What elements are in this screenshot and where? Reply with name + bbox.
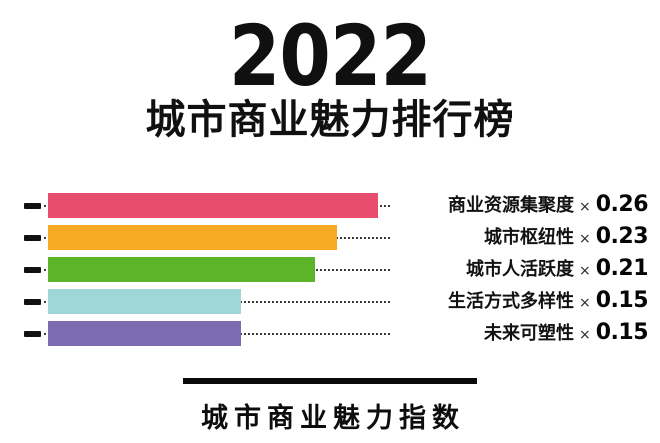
- dash-marker-icon: [24, 235, 41, 241]
- multiply-icon: ×: [579, 263, 591, 279]
- chart-row: 生活方式多样性×0.15: [0, 286, 660, 318]
- dash-marker-icon: [24, 203, 41, 209]
- footer-caption: 城市商业魅力指数: [0, 396, 660, 435]
- chart-bar-weight: 0.23: [596, 224, 648, 249]
- chart-bar: [48, 193, 378, 218]
- page-title-year: 2022: [40, 18, 621, 95]
- chart-bar-weight: 0.15: [596, 288, 648, 313]
- multiply-icon: ×: [579, 231, 591, 247]
- dash-marker-icon: [24, 267, 41, 273]
- multiply-icon: ×: [579, 295, 591, 311]
- chart-row: 城市枢纽性×0.23: [0, 222, 660, 254]
- chart-bar-label: 商业资源集聚度: [448, 191, 574, 217]
- dash-marker-icon: [24, 299, 41, 305]
- footer-divider: [183, 378, 477, 384]
- chart-bar-label-group: 未来可塑性×0.15: [484, 319, 648, 345]
- chart-row: 商业资源集聚度×0.26: [0, 190, 660, 222]
- chart-bar-label: 未来可塑性: [484, 319, 574, 345]
- multiply-icon: ×: [579, 327, 591, 343]
- chart-bar-weight: 0.15: [596, 320, 648, 345]
- bar-chart: 商业资源集聚度×0.26城市枢纽性×0.23城市人活跃度×0.21生活方式多样性…: [0, 190, 660, 350]
- dash-marker-icon: [24, 331, 41, 337]
- chart-bar-label: 城市枢纽性: [484, 223, 574, 249]
- chart-bar: [48, 321, 241, 346]
- multiply-icon: ×: [579, 199, 591, 215]
- chart-bar: [48, 289, 241, 314]
- title-block: 2022 城市商业魅力排行榜: [0, 18, 660, 141]
- chart-bar-label-group: 城市人活跃度×0.21: [466, 255, 648, 281]
- chart-bar-weight: 0.21: [596, 256, 648, 281]
- chart-row: 未来可塑性×0.15: [0, 318, 660, 350]
- chart-bar-label-group: 商业资源集聚度×0.26: [448, 191, 648, 217]
- chart-bar: [48, 257, 315, 282]
- chart-bar-label: 城市人活跃度: [466, 255, 574, 281]
- infographic-poster: 2022 城市商业魅力排行榜 商业资源集聚度×0.26城市枢纽性×0.23城市人…: [0, 0, 660, 443]
- chart-bar-label-group: 生活方式多样性×0.15: [448, 287, 648, 313]
- chart-bar-label: 生活方式多样性: [448, 287, 574, 313]
- chart-bar: [48, 225, 337, 250]
- page-title-subtitle: 城市商业魅力排行榜: [0, 99, 660, 141]
- chart-row: 城市人活跃度×0.21: [0, 254, 660, 286]
- chart-bar-label-group: 城市枢纽性×0.23: [484, 223, 648, 249]
- chart-bar-weight: 0.26: [596, 192, 648, 217]
